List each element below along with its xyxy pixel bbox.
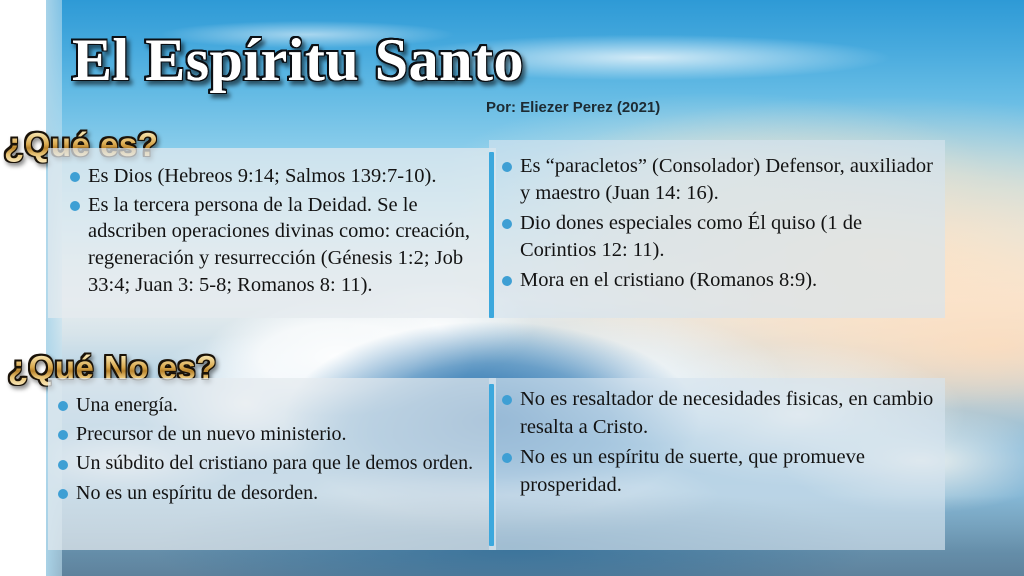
list-item: Una energía. [56,392,496,419]
presentation-slide: El Espíritu Santo Por: Eliezer Perez (20… [0,0,1024,576]
bullet-list-que-no-es-left: Una energía. Precursor de un nuevo minis… [56,392,496,509]
list-item: Dio dones especiales como Él quiso (1 de… [500,210,940,265]
bullet-list-que-es-left: Es Dios (Hebreos 9:14; Salmos 139:7-10).… [68,163,488,300]
accent-bar-que-es [489,152,494,318]
list-item: Es “paracletos” (Consolador) Defensor, a… [500,153,940,208]
list-item: Un súbdito del cristiano para que le dem… [56,450,496,477]
list-item: No es resaltador de necesidades fisicas,… [500,386,940,442]
list-item: Precursor de un nuevo ministerio. [56,421,496,448]
list-item: Es la tercera persona de la Deidad. Se l… [68,192,488,299]
slide-title: El Espíritu Santo [72,26,524,95]
list-item: Es Dios (Hebreos 9:14; Salmos 139:7-10). [68,163,488,190]
bullet-list-que-es-right: Es “paracletos” (Consolador) Defensor, a… [500,153,940,296]
bullet-list-que-no-es-right: No es resaltador de necesidades fisicas,… [500,386,940,502]
left-white-margin [0,0,46,576]
author-byline: Por: Eliezer Perez (2021) [486,99,660,116]
list-item: Mora en el cristiano (Romanos 8:9). [500,267,940,294]
list-item: No es un espíritu de suerte, que promuev… [500,444,940,500]
list-item: No es un espíritu de desorden. [56,480,496,507]
